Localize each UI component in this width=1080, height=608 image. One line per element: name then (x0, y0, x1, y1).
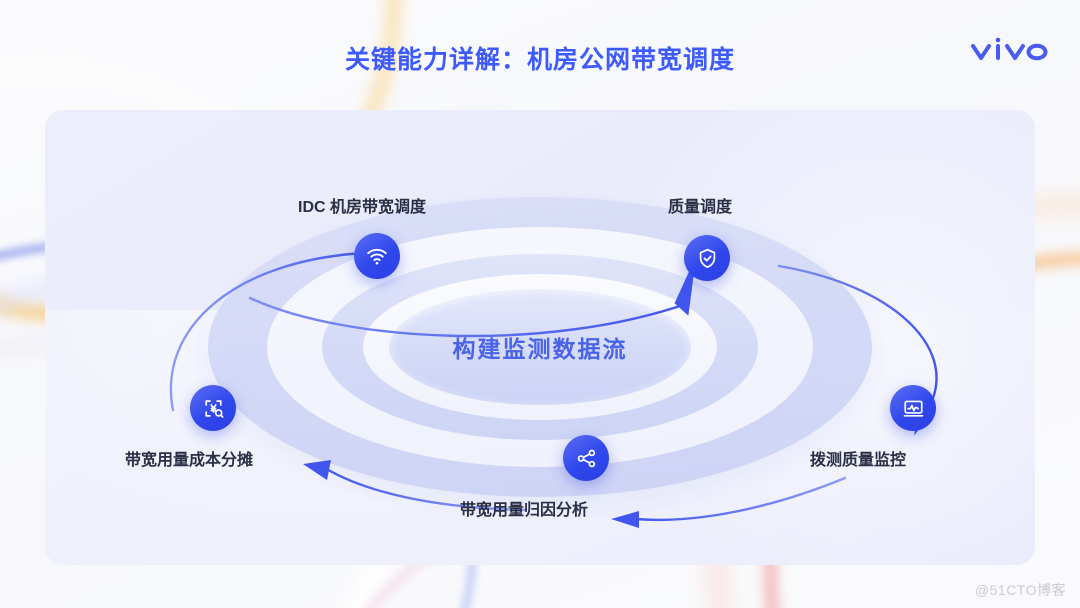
cost-search-icon (202, 397, 225, 420)
node-bandwidth-cost-allocation[interactable] (190, 385, 236, 431)
share-nodes-icon (575, 447, 598, 470)
vivo-logo (970, 37, 1050, 63)
node-label-bandwidth-cost-allocation: 带宽用量成本分摊 (125, 446, 253, 470)
shield-check-icon (696, 247, 719, 270)
node-quality-scheduling[interactable] (684, 235, 730, 281)
node-label-quality-scheduling: 质量调度 (668, 193, 732, 217)
wifi-icon (365, 244, 389, 268)
node-label-bandwidth-usage-attribution: 带宽用量归因分析 (460, 496, 588, 520)
node-bandwidth-usage-attribution[interactable] (563, 435, 609, 481)
page-title: 关键能力详解：机房公网带宽调度 (0, 40, 1080, 76)
diagram-card: 0 0 0 1 0 0 1 0 0 1 1 11 1 0 1 1 0 1 1 0… (45, 110, 1035, 565)
center-label: 构建监测数据流 (389, 289, 691, 405)
node-idc-bandwidth-scheduling[interactable] (354, 233, 400, 279)
monitor-chart-icon (902, 397, 925, 420)
watermark: @51CTO博客 (975, 580, 1066, 600)
node-label-dial-test-quality-monitoring: 拨测质量监控 (810, 446, 906, 470)
node-label-idc-bandwidth-scheduling: IDC 机房带宽调度 (298, 193, 426, 217)
node-dial-test-quality-monitoring[interactable] (890, 385, 936, 431)
slide-canvas: 关键能力详解：机房公网带宽调度 0 0 0 1 0 0 1 0 0 1 1 11… (0, 0, 1080, 608)
